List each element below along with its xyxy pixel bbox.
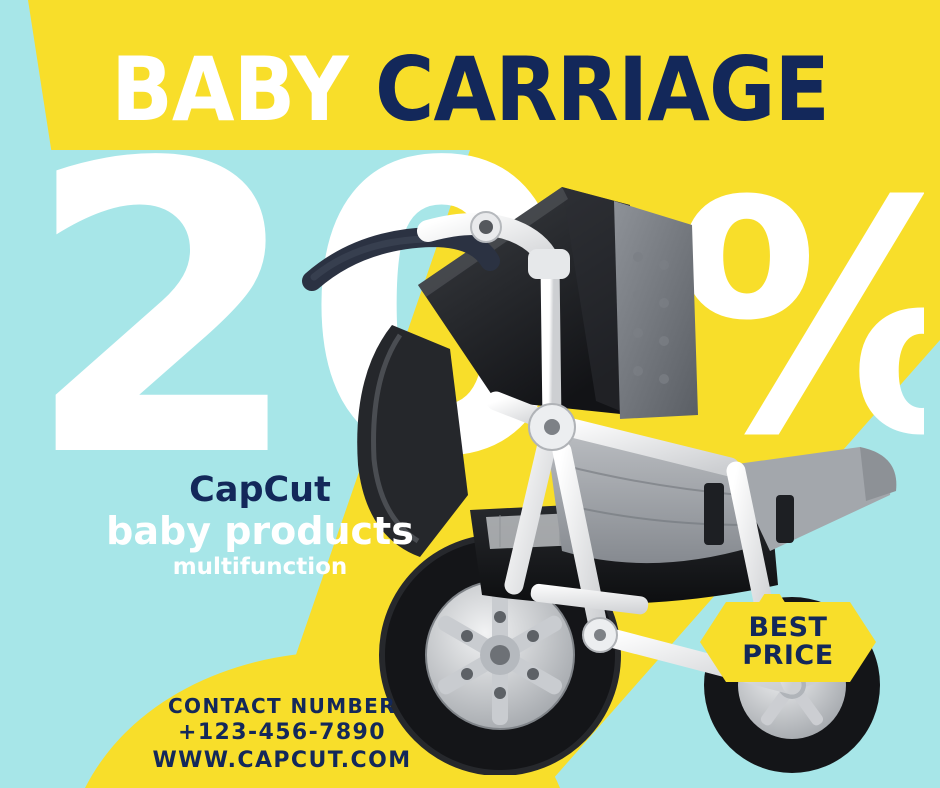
best-price-badge: BEST PRICE [700, 594, 876, 690]
brand-subtagline: multifunction [70, 555, 450, 579]
brand-block: CapCut baby products multifunction [70, 472, 450, 580]
headline-word-baby: BABY [111, 38, 348, 141]
headline-word-carriage: CARRIAGE [375, 38, 829, 141]
brand-name: CapCut [70, 472, 450, 509]
stroller-seat [546, 433, 896, 563]
badge-line-2: PRICE [742, 642, 833, 670]
contact-label: CONTACT NUMBER [72, 693, 492, 719]
brand-tagline: baby products [70, 511, 450, 551]
badge-text: BEST PRICE [700, 594, 876, 690]
badge-line-1: BEST [749, 614, 828, 642]
contact-website[interactable]: WWW.CAPCUT.COM [72, 747, 492, 776]
contact-phone[interactable]: +123-456-7890 [72, 719, 492, 748]
contact-block: CONTACT NUMBER +123-456-7890 WWW.CAPCUT.… [72, 693, 492, 776]
page-title: BABY CARRIAGE [38, 46, 903, 134]
promo-poster: 20 % BABY CARRIAGE [0, 0, 940, 788]
